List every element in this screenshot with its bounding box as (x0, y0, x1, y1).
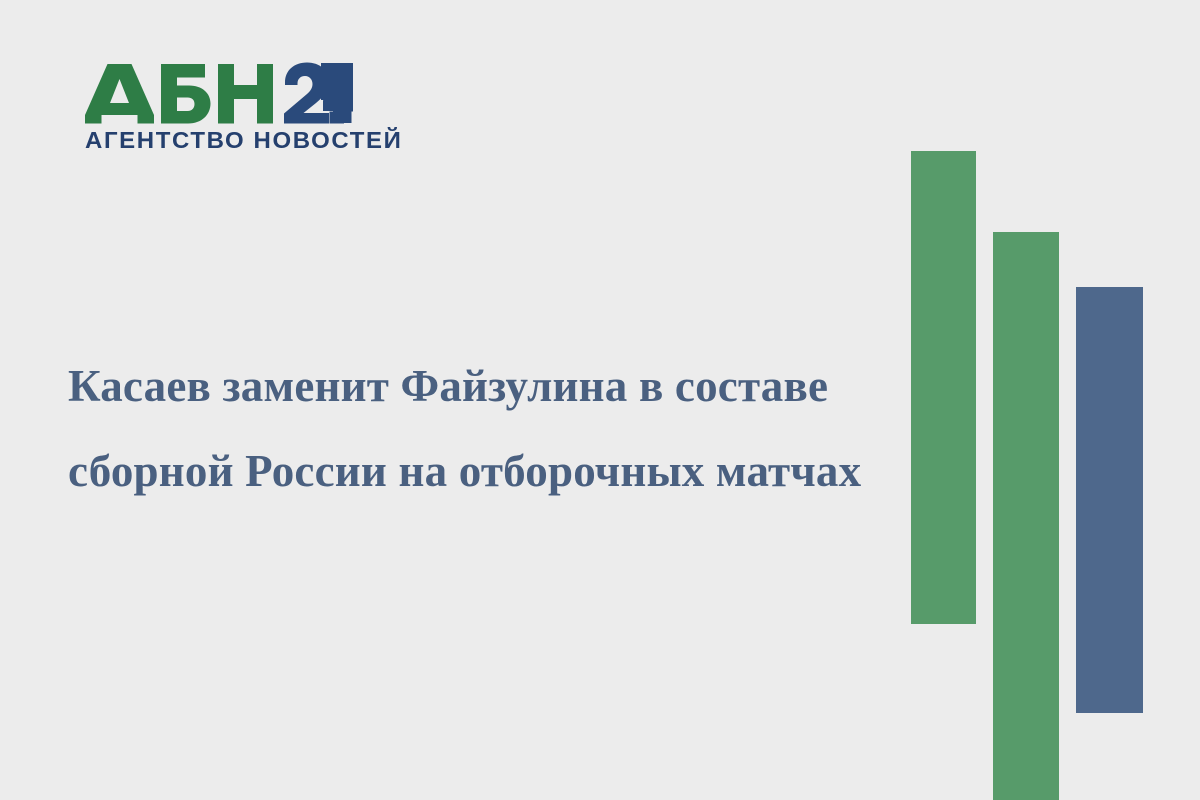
abn24-wordmark-icon (85, 62, 353, 124)
news-card: АГЕНТСТВО НОВОСТЕЙ Касаев заменит Файзул… (0, 0, 1200, 800)
abn24-logo[interactable]: АГЕНТСТВО НОВОСТЕЙ (85, 62, 375, 153)
bar-graphic-bar-2 (993, 232, 1059, 800)
bar-graphic-bar-1 (911, 151, 976, 624)
bar-graphic-bar-3 (1076, 287, 1143, 713)
headline-text: Касаев заменит Файзулина в составе сборн… (68, 344, 868, 514)
abn24-logo-tagline: АГЕНТСТВО НОВОСТЕЙ (85, 129, 381, 153)
